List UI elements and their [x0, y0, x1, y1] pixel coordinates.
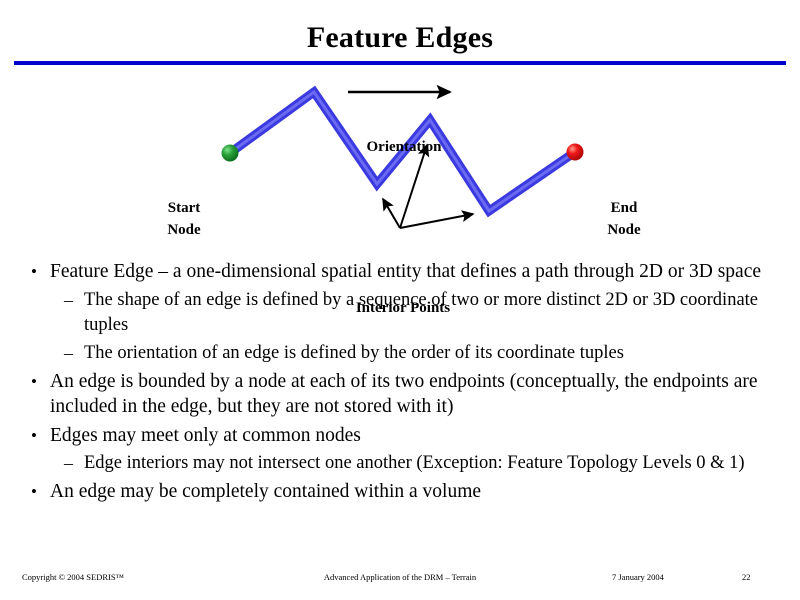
bullet-item: • Edges may meet only at common nodes: [0, 423, 800, 449]
bullet-text: An edge may be completely contained with…: [50, 479, 772, 505]
footer-page-number: 22: [742, 570, 772, 584]
bullet-item: • An edge may be completely contained wi…: [0, 479, 800, 505]
end-node-label: End Node: [588, 197, 660, 241]
bullet-text: Feature Edge – a one-dimensional spatial…: [50, 259, 772, 285]
slide-footer: Copyright © 2004 SEDRIS™ Advanced Applic…: [0, 570, 800, 588]
page-title: Feature Edges: [0, 20, 800, 56]
end-node-marker: [567, 144, 584, 161]
bullet-marker: •: [31, 369, 37, 395]
bullet-item: • Feature Edge – a one-dimensional spati…: [0, 259, 800, 285]
start-node-label-line2: Node: [167, 222, 200, 238]
bullet-text: The orientation of an edge is defined by…: [84, 341, 764, 366]
bullet-marker: –: [64, 341, 73, 366]
start-node-label: Start Node: [148, 197, 220, 241]
bullet-text: An edge is bounded by a node at each of …: [50, 369, 772, 420]
bullet-item: – Edge interiors may not intersect one a…: [0, 451, 800, 476]
interior-arrow-right: [400, 214, 473, 228]
slide-body: • Feature Edge – a one-dimensional spati…: [0, 256, 800, 505]
feature-edge-diagram: Start Node End Node Orientation Interior…: [0, 66, 800, 256]
bullet-marker: •: [31, 423, 37, 449]
bullet-item: – The orientation of an edge is defined …: [0, 341, 800, 366]
bullet-text: Edge interiors may not intersect one ano…: [84, 451, 764, 476]
footer-presentation-title: Advanced Application of the DRM – Terrai…: [0, 570, 800, 584]
start-node-marker: [222, 145, 239, 162]
footer-date: 7 January 2004: [612, 570, 664, 584]
interior-arrow-left: [383, 199, 400, 228]
end-node-label-line2: Node: [607, 222, 640, 238]
orientation-label: Orientation: [340, 136, 468, 158]
start-node-label-line1: Start: [168, 200, 201, 216]
bullet-item: • An edge is bounded by a node at each o…: [0, 369, 800, 420]
bullet-text: The shape of an edge is defined by a seq…: [84, 288, 764, 338]
bullet-marker: –: [64, 451, 73, 476]
bullet-text: Edges may meet only at common nodes: [50, 423, 772, 449]
end-node-label-line1: End: [611, 200, 638, 216]
bullet-marker: •: [31, 479, 37, 505]
bullet-item: – The shape of an edge is defined by a s…: [0, 288, 800, 338]
bullet-marker: –: [64, 288, 73, 313]
bullet-marker: •: [31, 259, 37, 285]
title-divider: [14, 61, 786, 65]
